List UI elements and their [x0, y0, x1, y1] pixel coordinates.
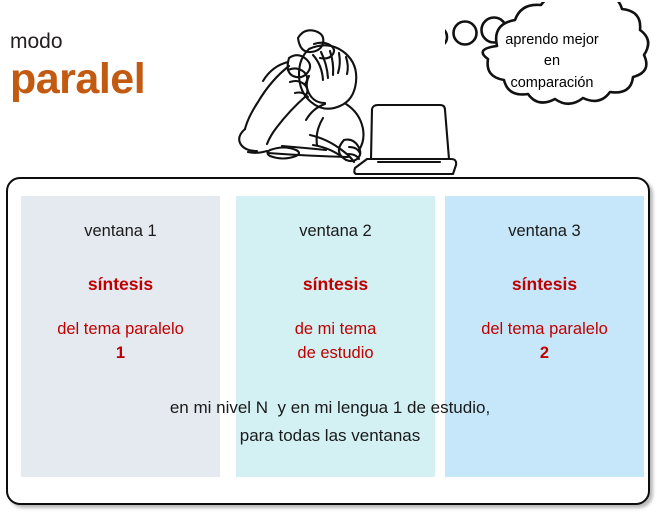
thought-cloud-icon: aprendo mejor en comparación [445, 2, 657, 137]
mode-label: modo [10, 30, 220, 53]
window-column-1-body: del tema paralelo 1 [21, 318, 220, 366]
window-column-1-body-line1: del tema paralelo [21, 318, 220, 342]
mode-name: paralel [10, 57, 220, 102]
window-column-3-emphasis: síntesis [445, 274, 644, 295]
window-column-1-title: ventana 1 [21, 222, 220, 241]
window-column-1-emphasis: síntesis [21, 274, 220, 295]
thought-cloud-text: aprendo mejor en comparación [477, 30, 627, 94]
cloud-line-3: comparación [477, 73, 627, 94]
windows-columns: ventana 1 síntesis del tema paralelo 1 v… [8, 179, 648, 503]
windows-panel: ventana 1 síntesis del tema paralelo 1 v… [6, 177, 650, 505]
person-thinking-at-laptop-illustration [210, 0, 460, 177]
window-column-2-body-line1: de mi tema [236, 318, 435, 342]
window-column-3-title: ventana 3 [445, 222, 644, 241]
window-column-3-body-line1: del tema paralelo [445, 318, 644, 342]
window-column-2-title: ventana 2 [236, 222, 435, 241]
mode-heading: modo paralel [10, 30, 220, 102]
window-column-2-emphasis: síntesis [236, 274, 435, 295]
header-area: modo paralel [0, 0, 657, 177]
cloud-line-2: en [477, 51, 627, 72]
window-column-2-body-line2: de estudio [236, 342, 435, 366]
panel-caption-line1: en mi nivel N y en mi lengua 1 de estudi… [8, 394, 652, 422]
panel-caption-line2: para todas las ventanas [8, 422, 652, 450]
window-column-1-body-line2: 1 [21, 342, 220, 366]
window-column-3-body-line2: 2 [445, 342, 644, 366]
cloud-line-1: aprendo mejor [477, 30, 627, 51]
panel-caption: en mi nivel N y en mi lengua 1 de estudi… [8, 394, 652, 449]
window-column-2-body: de mi tema de estudio [236, 318, 435, 366]
window-column-3-body: del tema paralelo 2 [445, 318, 644, 366]
